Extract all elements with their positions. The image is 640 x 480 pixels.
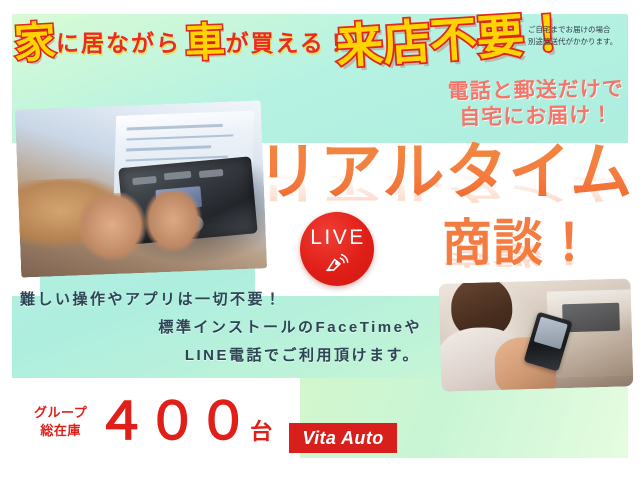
stock-label-line-1: グループ (34, 404, 87, 422)
headline-kanji-home: 家 (13, 21, 57, 65)
headline-tail-2: が買える！ (225, 32, 349, 55)
logo-text: Vita Auto (302, 429, 383, 447)
shoudan-title: 商談！ (442, 218, 595, 268)
subhead-delivery: 電話と郵送だけで 自宅にお届け！ (436, 76, 637, 132)
realtime-title: リアルタイム (257, 142, 633, 204)
subhead-line-1: 電話と郵送だけで (448, 77, 624, 103)
live-badge: LIVE (300, 212, 374, 286)
live-label: LIVE (308, 227, 366, 248)
fineprint-line-1: ご自宅までお届けの場合 (528, 24, 636, 36)
stock-number: ４００ (95, 396, 248, 448)
headline-tail-1: に居ながら (56, 32, 181, 55)
headline-kanji-car: 車 (185, 22, 226, 63)
woman-smartphone-photo (439, 278, 634, 391)
subhead-line-2: 自宅にお届け！ (436, 103, 636, 133)
stock-label-line-2: 総在庫 (34, 422, 87, 440)
poster-root: 家に居ながら 車が買える！ 来店不要！ ご自宅までお届けの場合 別途陸送代がかか… (0, 0, 640, 480)
body-line-3: LINE電話でご利用頂けます。 (18, 348, 430, 363)
stock-count-block: グループ 総在庫 ４００ 台 (34, 396, 272, 448)
satellite-dish-icon (324, 250, 350, 272)
body-line-2: 標準インストールのFaceTimeや (18, 320, 430, 335)
stock-label: グループ 総在庫 (34, 404, 87, 439)
fineprint-line-2: 別途陸送代がかかります。 (528, 36, 636, 48)
photo-hands (77, 189, 232, 275)
vita-auto-logo: Vita Auto (289, 423, 397, 453)
fineprint-note: ご自宅までお届けの場合 別途陸送代がかかります。 (528, 24, 636, 49)
body-line-1: 難しい操作やアプリは一切不要！ (18, 292, 430, 307)
stock-unit: 台 (250, 421, 272, 443)
body-copy: 難しい操作やアプリは一切不要！ 標準インストールのFaceTimeや LINE電… (18, 292, 430, 376)
hands-on-laptop-photo (15, 100, 267, 277)
